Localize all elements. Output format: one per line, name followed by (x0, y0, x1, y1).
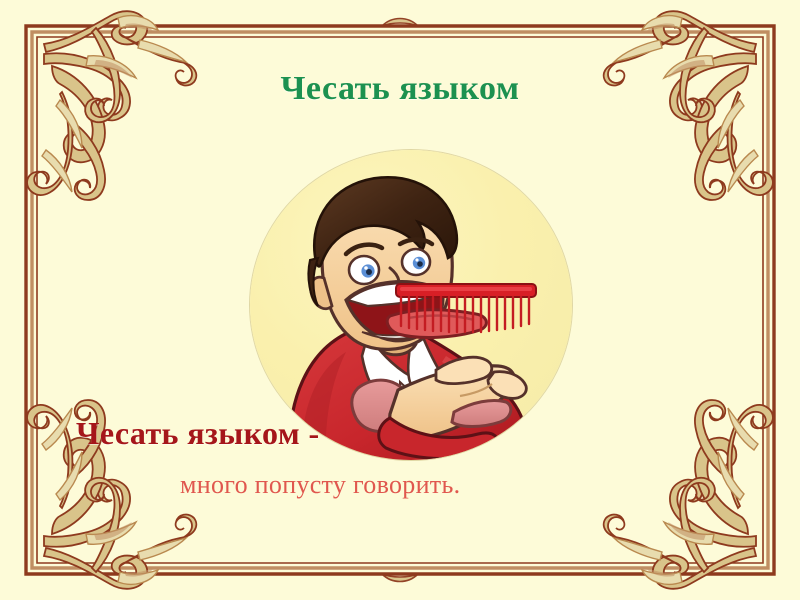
corner-ornament-bottom-right (604, 400, 774, 589)
idiom-phrase: Чесать языком - (76, 415, 320, 452)
idiom-meaning: много попусту говорить. (180, 470, 460, 500)
comb (396, 284, 536, 332)
page-title: Чесать языком (0, 70, 800, 108)
slide-canvas: Чесать языком Чесать языком - много попу… (0, 0, 800, 600)
head (308, 177, 486, 355)
